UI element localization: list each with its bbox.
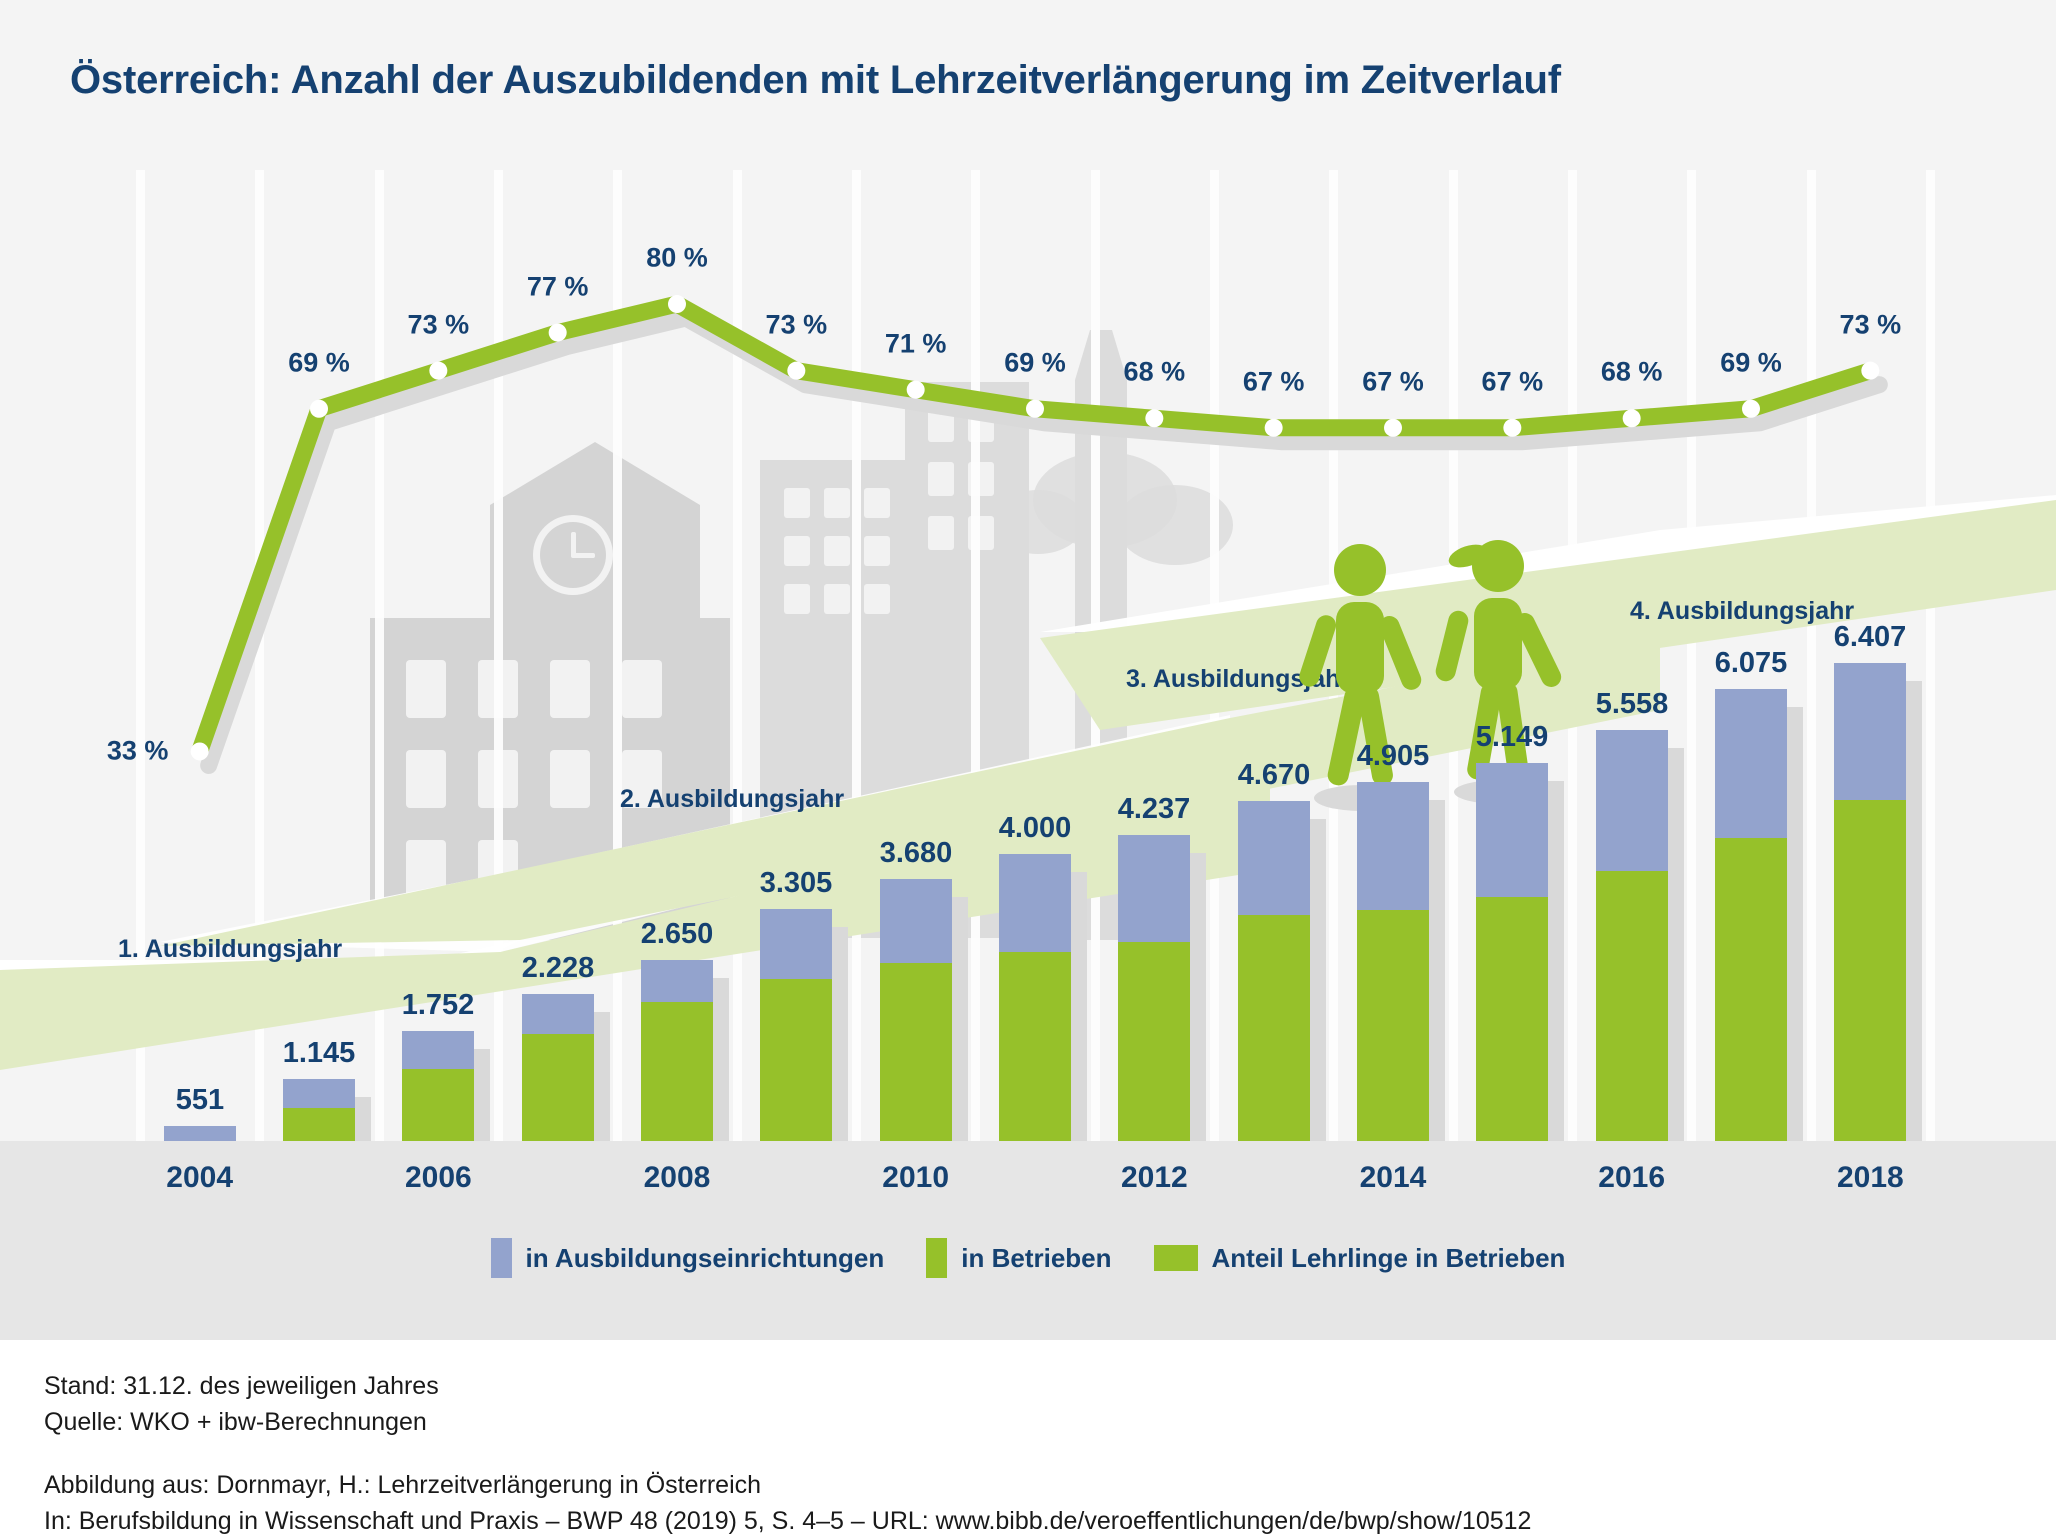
legend-swatch xyxy=(1154,1245,1198,1271)
percentage-label: 73 % xyxy=(766,309,828,340)
line-marker-dot[interactable] xyxy=(787,362,805,380)
line-marker-dot[interactable] xyxy=(310,400,328,418)
footer-quelle: Quelle: WKO + ibw-Berechnungen xyxy=(44,1404,2012,1440)
line-marker-dot[interactable] xyxy=(1265,419,1283,437)
line-marker-dot[interactable] xyxy=(1742,400,1760,418)
legend-item[interactable]: in Betrieben xyxy=(926,1238,1111,1278)
footer-spacer xyxy=(44,1441,2012,1467)
percentage-label: 73 % xyxy=(1840,309,1902,340)
line-marker-dot[interactable] xyxy=(907,381,925,399)
legend-label: in Ausbildungseinrichtungen xyxy=(526,1243,885,1274)
line-marker-dot[interactable] xyxy=(1861,362,1879,380)
legend-label: Anteil Lehrlinge in Betrieben xyxy=(1212,1243,1566,1274)
percentage-label: 67 % xyxy=(1362,366,1424,397)
line-marker-dot[interactable] xyxy=(549,324,567,342)
percentage-label: 80 % xyxy=(646,243,708,274)
page-title: Österreich: Anzahl der Auszubildenden mi… xyxy=(70,58,1561,103)
legend-swatch xyxy=(926,1238,947,1278)
legend-label: in Betrieben xyxy=(961,1243,1111,1274)
x-axis-year-label: 2006 xyxy=(405,1161,472,1195)
percentage-label: 73 % xyxy=(408,309,470,340)
percentage-label: 71 % xyxy=(885,328,947,359)
percentage-line-series xyxy=(0,170,2056,1170)
line-marker-dot[interactable] xyxy=(1503,419,1521,437)
legend-item[interactable]: in Ausbildungseinrichtungen xyxy=(491,1238,885,1278)
percentage-label: 69 % xyxy=(288,347,350,378)
legend-item[interactable]: Anteil Lehrlinge in Betrieben xyxy=(1154,1243,1566,1274)
footer-abbildung: Abbildung aus: Dornmayr, H.: Lehrzeitver… xyxy=(44,1467,2012,1503)
line-marker-dot[interactable] xyxy=(668,295,686,313)
x-axis-strip: 20042006200820102012201420162018 in Ausb… xyxy=(0,1141,2056,1340)
plot-area: 1. Ausbildungsjahr 2. Ausbildungsjahr 3.… xyxy=(0,170,2056,1170)
percentage-label: 68 % xyxy=(1124,357,1186,388)
footer-notes: Stand: 31.12. des jeweiligen Jahres Quel… xyxy=(0,1340,2056,1539)
line-marker-dot[interactable] xyxy=(1026,400,1044,418)
x-axis-year-label: 2008 xyxy=(644,1161,711,1195)
line-marker-dot[interactable] xyxy=(191,742,209,760)
x-axis-year-label: 2004 xyxy=(166,1161,233,1195)
percentage-label: 67 % xyxy=(1243,366,1305,397)
footer-stand: Stand: 31.12. des jeweiligen Jahres xyxy=(44,1368,2012,1404)
percentage-label: 69 % xyxy=(1004,347,1066,378)
x-axis-year-label: 2014 xyxy=(1360,1161,1427,1195)
percentage-label: 77 % xyxy=(527,271,589,302)
x-axis-year-label: 2016 xyxy=(1598,1161,1665,1195)
line-marker-dot[interactable] xyxy=(429,362,447,380)
chart-legend: in Ausbildungseinrichtungenin BetriebenA… xyxy=(0,1238,2056,1278)
x-axis-year-label: 2010 xyxy=(882,1161,949,1195)
legend-swatch xyxy=(491,1238,512,1278)
x-axis-year-label: 2018 xyxy=(1837,1161,1904,1195)
footer-source-url: In: Berufsbildung in Wissenschaft und Pr… xyxy=(44,1503,2012,1539)
percentage-label: 33 % xyxy=(107,736,169,767)
percentage-label: 68 % xyxy=(1601,357,1663,388)
line-marker-dot[interactable] xyxy=(1145,409,1163,427)
percentage-label: 67 % xyxy=(1482,366,1544,397)
infographic-panel: Österreich: Anzahl der Auszubildenden mi… xyxy=(0,0,2056,1340)
line-marker-dot[interactable] xyxy=(1384,419,1402,437)
x-axis-year-label: 2012 xyxy=(1121,1161,1188,1195)
line-marker-dot[interactable] xyxy=(1623,409,1641,427)
percentage-label: 69 % xyxy=(1720,347,1782,378)
